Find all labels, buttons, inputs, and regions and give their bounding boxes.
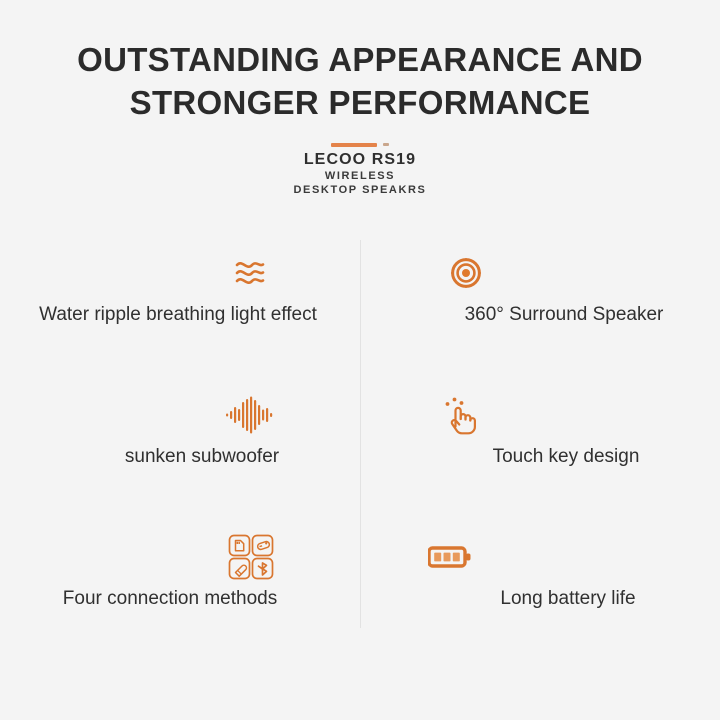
brand-accent-dot	[383, 143, 389, 146]
page-title: OUTSTANDING APPEARANCE AND STRONGER PERF…	[0, 38, 720, 124]
brand-subtitle-line-2: DESKTOP SPEAKRS	[0, 183, 720, 197]
surround-speaker-icon	[360, 250, 572, 296]
feature-label: Water ripple breathing light effect	[0, 302, 358, 328]
feature-grid: Water ripple breathing light effect 360°…	[0, 236, 720, 662]
feature-row: sunken subwoofer	[0, 378, 720, 520]
feature-label: sunken subwoofer	[22, 444, 382, 470]
feature-item-water-ripple: Water ripple breathing light effect	[0, 236, 360, 378]
page-title-line-2: STRONGER PERFORMANCE	[0, 81, 720, 124]
feature-item-subwoofer: sunken subwoofer	[0, 378, 360, 520]
feature-row: Four connection methods Long battery lif…	[0, 520, 720, 662]
brand-accent-bar	[331, 143, 377, 147]
feature-label: Touch key design	[386, 444, 720, 470]
feature-label: Long battery life	[388, 586, 720, 612]
feature-row: Water ripple breathing light effect 360°…	[0, 236, 720, 378]
feature-item-touch-key: Touch key design	[360, 378, 720, 520]
brand-model-name: LECOO RS19	[0, 150, 720, 169]
feature-item-connection-methods: Four connection methods	[0, 520, 360, 662]
feature-label: Four connection methods	[0, 586, 350, 612]
brand-subtitle-line-1: WIRELESS	[0, 169, 720, 183]
battery-icon	[360, 534, 540, 580]
touch-hand-icon	[360, 392, 560, 438]
feature-item-surround-speaker: 360° Surround Speaker	[360, 236, 720, 378]
feature-label: 360° Surround Speaker	[384, 302, 720, 328]
brand-rule-row	[0, 140, 720, 149]
brand-block: LECOO RS19 WIRELESS DESKTOP SPEAKRS	[0, 140, 720, 197]
feature-item-battery: Long battery life	[360, 520, 720, 662]
page-title-line-1: OUTSTANDING APPEARANCE AND	[0, 38, 720, 81]
